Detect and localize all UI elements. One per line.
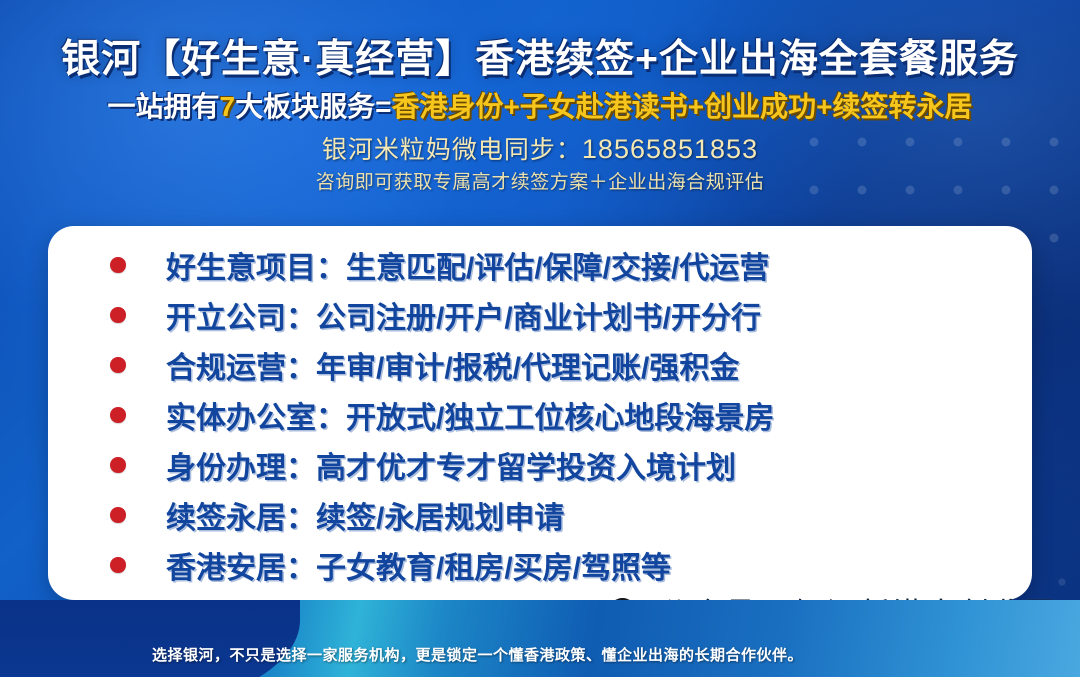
subtitle-prefix: 一站拥有 (107, 91, 219, 122)
bullet-dot-icon (110, 357, 126, 373)
service-label: 续签永居：续签/永居规划申请 (166, 493, 564, 537)
list-item[interactable]: 实体办公室：开放式/独立工位核心地段海景房 (48, 390, 1032, 440)
service-label: 香港安居：子女教育/租房/买房/驾照等 (166, 543, 671, 587)
offer-note: 咨询即可获取专属高才续签方案＋企业出海合规评估 (0, 171, 1080, 195)
footer-slogan: 选择银河，不只是选择一家服务机构，更是锁定一个懂香港政策、懂企业出海的长期合作伙… (152, 644, 803, 665)
subtitle: 一站拥有7大板块服务=香港身份+子女赴港读书+创业成功+续签转永居 (0, 90, 1080, 124)
service-label: 实体办公室：开放式/独立工位核心地段海景房 (166, 393, 774, 437)
poster-root: 银河【好生意·真经营】香港续签+企业出海全套餐服务 一站拥有7大板块服务=香港身… (0, 0, 1080, 677)
contact-label: 银河米粒妈微电同步： (322, 136, 582, 164)
bullet-dot-icon (110, 307, 126, 323)
contact-line: 银河米粒妈微电同步：18565851853 (0, 134, 1080, 165)
bullet-dot-icon (110, 257, 126, 273)
list-item[interactable]: 身份办理：高才优才专才留学投资入境计划 (48, 440, 1032, 490)
service-label: 身份办理：高才优才专才留学投资入境计划 (166, 443, 736, 487)
list-item[interactable]: 香港安居：子女教育/租房/买房/驾照等 (48, 540, 1032, 590)
bullet-dot-icon (110, 507, 126, 523)
list-item[interactable]: 开立公司：公司注册/开户/商业计划书/开分行 (48, 290, 1032, 340)
bullet-dot-icon (110, 407, 126, 423)
subtitle-highlight: 香港身份+子女赴港读书+创业成功+续签转永居 (391, 91, 972, 122)
list-item[interactable]: 好生意项目：生意匹配/评估/保障/交接/代运营 (48, 240, 1032, 290)
contact-phone[interactable]: 18565851853 (582, 134, 758, 164)
service-label: 好生意项目：生意匹配/评估/保障/交接/代运营 (166, 243, 769, 287)
bullet-dot-icon (110, 557, 126, 573)
service-card: 好生意项目：生意匹配/评估/保障/交接/代运营 开立公司：公司注册/开户/商业计… (48, 226, 1032, 600)
bullet-dot-icon (110, 457, 126, 473)
service-label: 合规运营：年审/审计/报税/代理记账/强积金 (166, 343, 739, 387)
footer-band: 选择银河，不只是选择一家服务机构，更是锁定一个懂香港政策、懂企业出海的长期合作伙… (0, 600, 1080, 677)
list-item[interactable]: 合规运营：年审/审计/报税/代理记账/强积金 (48, 340, 1032, 390)
list-item[interactable]: 续签永居：续签/永居规划申请 (48, 490, 1032, 540)
subtitle-mid: 大板块服务= (235, 91, 391, 122)
service-label: 开立公司：公司注册/开户/商业计划书/开分行 (166, 293, 761, 337)
page-title: 银河【好生意·真经营】香港续签+企业出海全套餐服务 (0, 38, 1080, 82)
service-list: 好生意项目：生意匹配/评估/保障/交接/代运营 开立公司：公司注册/开户/商业计… (48, 226, 1032, 590)
header: 银河【好生意·真经营】香港续签+企业出海全套餐服务 一站拥有7大板块服务=香港身… (0, 0, 1080, 195)
subtitle-number: 7 (220, 91, 236, 122)
